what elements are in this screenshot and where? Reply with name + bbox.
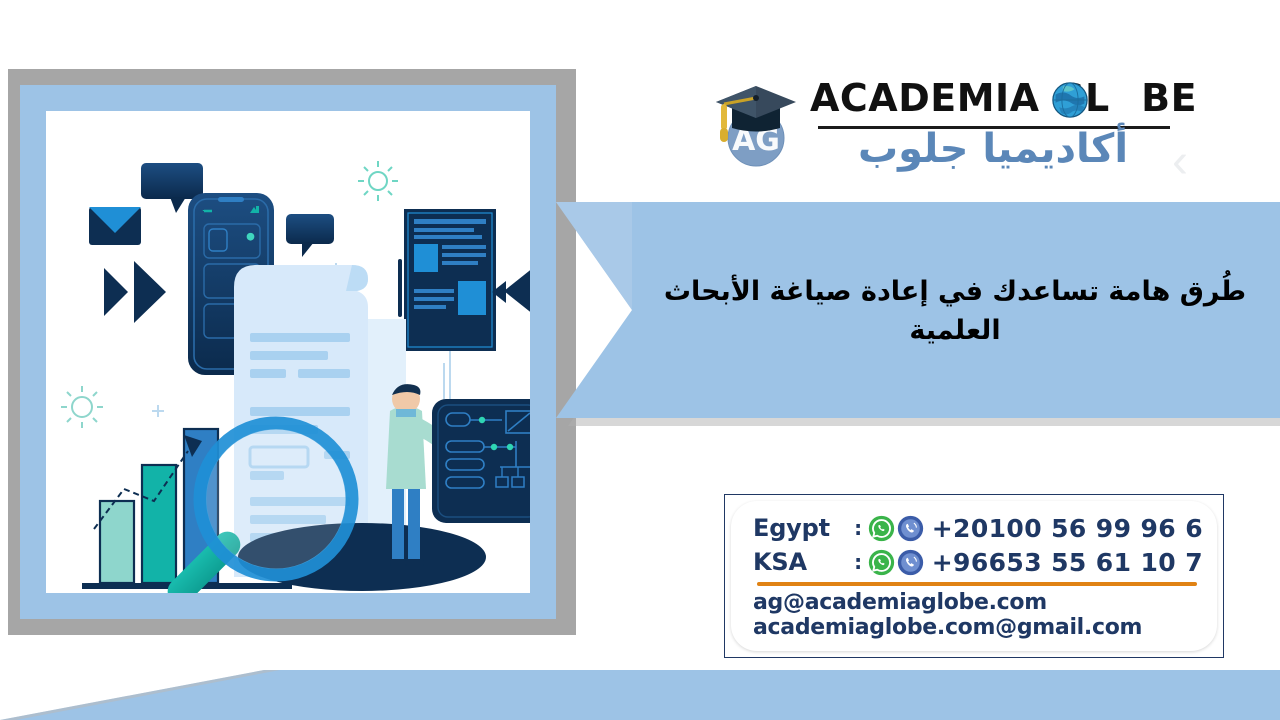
contact-card-body: Egypt : +20100 56 99 96 6 KSA : [731, 501, 1217, 651]
envelope-icon [89, 207, 141, 245]
gear-icon [358, 161, 398, 201]
illustration-frame [8, 69, 576, 635]
logo-english-tail: BE [1141, 76, 1197, 120]
country-label-ksa: KSA [753, 548, 854, 576]
email-secondary[interactable]: academiaglobe.com@gmail.com [753, 615, 1203, 641]
graduation-cap-icon: AG [706, 72, 802, 168]
illustration-canvas [46, 111, 530, 593]
chevron-left-icon: ‹ [1172, 138, 1188, 186]
left-arrows-icon [492, 267, 530, 315]
research-paraphrasing-illustration [46, 111, 530, 593]
gear-secondary-icon [61, 386, 103, 428]
brand-logo[interactable]: AG ACADEMIA GLOBE أكاديميا جلوب [706, 68, 1176, 190]
chat-bubble-secondary-icon [286, 214, 334, 257]
logo-english-text: ACADEMIA GLOBE [810, 76, 1197, 120]
page-title: طُرق هامة تساعدك في إعادة صياغة الأبحاث … [630, 272, 1280, 350]
logo-arabic-text: أكاديميا جلوب [810, 126, 1176, 172]
messaging-icons-egypt [868, 515, 924, 542]
messaging-icons-ksa [868, 549, 924, 576]
phone-number-egypt[interactable]: +20100 56 99 96 6 [932, 514, 1203, 543]
flowchart-board-icon [432, 363, 530, 523]
contact-divider [757, 582, 1197, 586]
contact-card: Egypt : +20100 56 99 96 6 KSA : [724, 494, 1224, 658]
contact-row-ksa: KSA : +96653 55 61 10 7 [753, 545, 1203, 579]
whatsapp-icon[interactable] [868, 549, 895, 576]
country-label-egypt: Egypt [753, 514, 854, 542]
separator-ksa: : [854, 550, 868, 574]
phone-number-ksa[interactable]: +96653 55 61 10 7 [932, 548, 1203, 577]
viber-phone-icon[interactable] [897, 549, 924, 576]
contact-row-egypt: Egypt : +20100 56 99 96 6 [753, 511, 1203, 545]
globe-icon [1052, 82, 1088, 118]
viber-phone-icon[interactable] [897, 515, 924, 542]
whatsapp-icon[interactable] [868, 515, 895, 542]
email-primary[interactable]: ag@academiaglobe.com [753, 590, 1203, 616]
illustration-inner-border [20, 85, 556, 619]
play-arrows-icon [104, 261, 166, 323]
separator-egypt: : [854, 516, 868, 540]
